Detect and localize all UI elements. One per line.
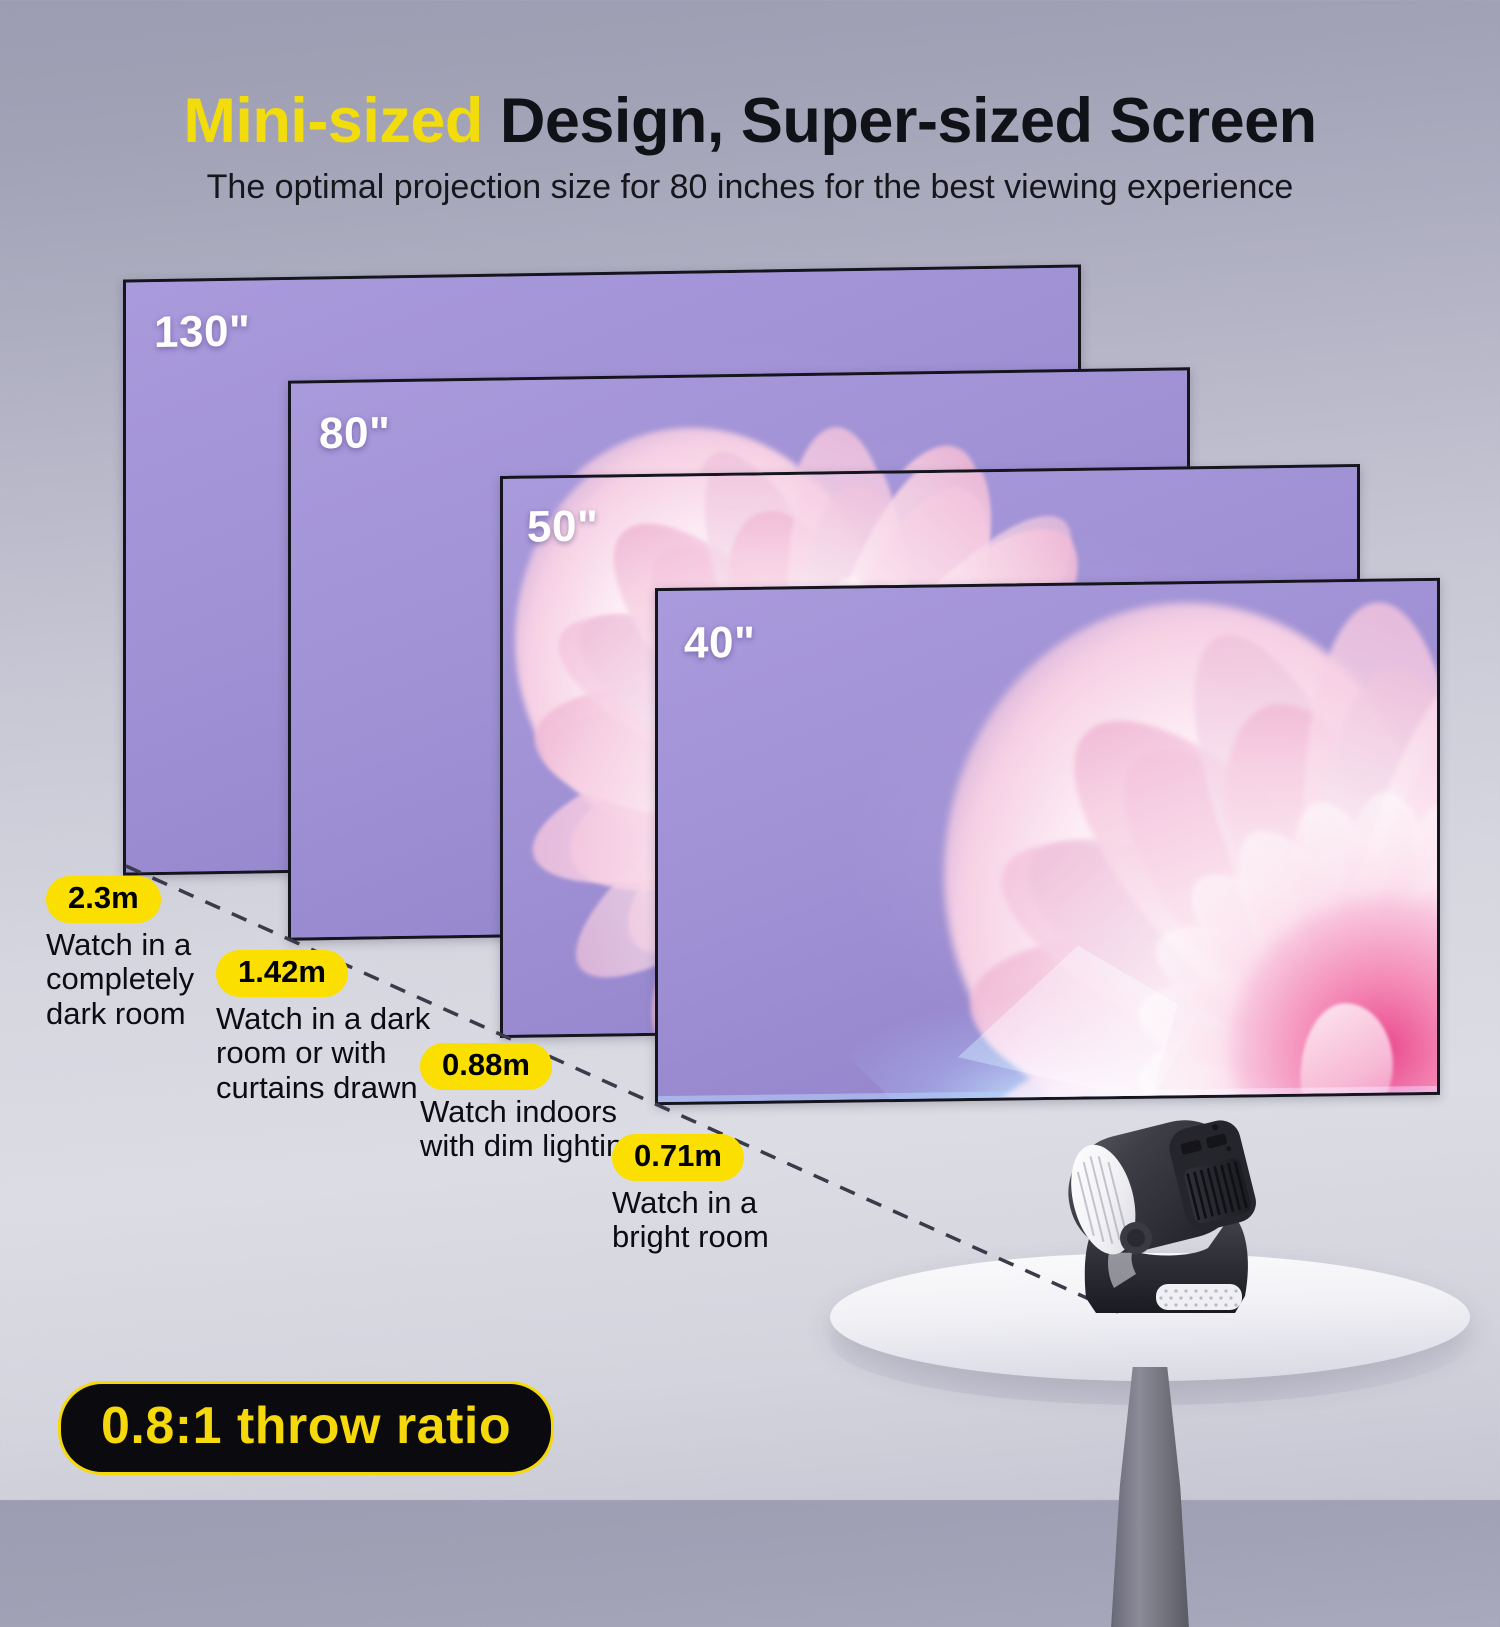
screen-label-50: 50"	[527, 502, 598, 553]
distance-badge: 0.88m	[420, 1043, 552, 1090]
throw-ratio-badge: 0.8:1 throw ratio	[58, 1381, 554, 1475]
distance-marker-0-71m: 0.71m Watch in a bright room	[612, 1134, 769, 1255]
distance-badge: 2.3m	[46, 876, 161, 923]
screen-wallpaper	[658, 581, 1437, 1102]
table-pedestal	[1096, 1367, 1204, 1627]
distance-caption: Watch indoors with dim lighting	[420, 1095, 641, 1164]
distance-caption: Watch in a completely dark room	[46, 928, 194, 1032]
portable-projector	[1040, 1098, 1300, 1338]
screen-label-130: 130"	[154, 307, 250, 359]
distance-marker-1-42m: 1.42m Watch in a dark room or with curta…	[216, 950, 430, 1106]
speaker-mesh	[1156, 1284, 1242, 1310]
screen-label-40: 40"	[684, 618, 755, 669]
distance-badge: 0.71m	[612, 1134, 744, 1181]
distance-caption: Watch in a dark room or with curtains dr…	[216, 1002, 430, 1106]
distance-marker-0-88m: 0.88m Watch indoors with dim lighting	[420, 1043, 641, 1164]
throw-ratio-label: 0.8:1 throw ratio	[101, 1397, 511, 1455]
distance-caption: Watch in a bright room	[612, 1186, 769, 1255]
screen-label-80: 80"	[319, 408, 390, 459]
screen-40: 40"	[655, 578, 1440, 1105]
distance-badge: 1.42m	[216, 950, 348, 997]
distance-marker-2-3m: 2.3m Watch in a completely dark room	[46, 876, 194, 1032]
